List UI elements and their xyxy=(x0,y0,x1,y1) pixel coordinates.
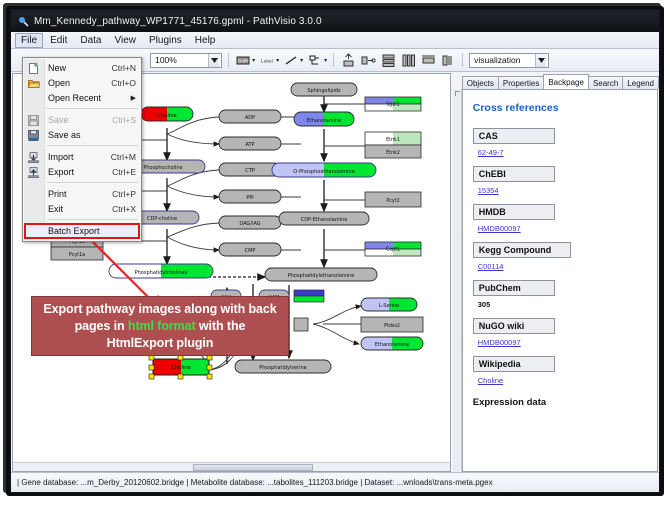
svg-text:Sphingolipids: Sphingolipids xyxy=(307,88,341,94)
align-top-tool-icon[interactable] xyxy=(340,52,356,68)
menu-item-accel: Ctrl+N xyxy=(112,63,136,73)
genproduct-tool-group[interactable]: GnPr ▾ xyxy=(235,52,255,68)
svg-text:O-Phosphoethanolamine: O-Phosphoethanolamine xyxy=(293,169,355,175)
svg-text:Pcyt1a: Pcyt1a xyxy=(69,252,85,258)
annotation-line2-highlight: html format xyxy=(128,319,196,333)
svg-text:CTP: CTP xyxy=(245,168,255,174)
visualization-combobox[interactable]: visualization xyxy=(469,53,549,68)
menu-item-label: Batch Export xyxy=(48,226,133,236)
xref-cas: CAS 62-49-7 xyxy=(473,128,647,157)
chevron-down-icon[interactable] xyxy=(535,54,546,67)
menu-item-print[interactable]: Print Ctrl+P xyxy=(23,186,141,201)
distribute-vertical-tool-icon[interactable] xyxy=(380,52,396,68)
menu-item-batch-export[interactable]: Batch Export xyxy=(24,223,140,239)
gene-pcyt1a[interactable]: Pcyt1a xyxy=(51,247,103,260)
side-panel-tabstrip: Objects Properties Backpage Search Legen… xyxy=(453,73,658,89)
toolbar-separator xyxy=(228,53,229,67)
gene-sgpl1[interactable]: Sgpl1 xyxy=(365,97,421,111)
annotation-line1: Export pathway images along with back xyxy=(43,302,276,316)
node-o-phosphoethanolamine[interactable]: O-Phosphoethanolamine xyxy=(272,163,376,177)
pathvisio-icon xyxy=(17,15,29,27)
xref-db-label: PubChem xyxy=(473,280,555,296)
svg-text:CMP: CMP xyxy=(245,248,256,254)
svg-text:Label: Label xyxy=(261,58,273,64)
distribute-horizontal-tool-icon[interactable] xyxy=(400,52,416,68)
menu-item-accel: Ctrl+S xyxy=(112,115,136,125)
gene-cept1[interactable]: Cept1 xyxy=(365,242,421,256)
svg-text:Ptdss2: Ptdss2 xyxy=(384,323,400,329)
menu-item-label: Import xyxy=(48,152,111,162)
menu-item-accel: Ctrl+X xyxy=(112,204,136,214)
node-l-serine[interactable]: L-Serine xyxy=(361,298,417,311)
xref-kegg-compound: Kegg Compound C00114 xyxy=(473,242,647,271)
genproduct-tool-icon[interactable]: GnPr xyxy=(235,52,251,68)
menu-item-save: Save Ctrl+S xyxy=(23,112,141,127)
node-choline-selected[interactable]: Choline xyxy=(149,355,212,379)
menu-item-open-recent[interactable]: Open Recent ▶ xyxy=(23,90,141,105)
menu-item-open[interactable]: Open Ctrl+O xyxy=(23,75,141,90)
svg-text:ADP: ADP xyxy=(245,115,255,121)
new-file-icon xyxy=(27,62,40,74)
menu-file[interactable]: File xyxy=(15,33,43,48)
svg-text:DAG/IAG: DAG/IAG xyxy=(239,221,260,227)
folder-open-icon xyxy=(27,77,40,89)
xref-value-link[interactable]: HMDB00097 xyxy=(478,224,647,233)
chevron-right-icon: ▶ xyxy=(131,94,136,102)
svg-text:Phosphatidylethanolamine: Phosphatidylethanolamine xyxy=(288,273,355,279)
tab-backpage[interactable]: Backpage xyxy=(543,74,589,89)
line-tool-group[interactable]: ▾ xyxy=(283,52,303,68)
tab-properties[interactable]: Properties xyxy=(498,76,544,89)
menu-item-accel: Ctrl+O xyxy=(111,78,136,88)
menubar: File Edit Data View Plugins Help xyxy=(11,32,659,49)
backpage-content: Cross references CAS 62-49-7 ChEBI 15354… xyxy=(462,89,658,472)
menu-item-label: Open Recent xyxy=(48,93,131,103)
label-tool-icon[interactable]: Label xyxy=(259,52,275,68)
node-dag-iag[interactable]: DAG/IAG xyxy=(219,216,281,229)
svg-text:Etnk2: Etnk2 xyxy=(386,150,400,156)
node-ethanolamine[interactable]: Ethanolamine xyxy=(294,112,354,126)
export-icon xyxy=(27,166,40,178)
svg-text:Ethanolamine: Ethanolamine xyxy=(375,342,410,348)
menu-item-accel: Ctrl+M xyxy=(111,152,136,162)
chevron-down-icon[interactable]: ▾ xyxy=(276,57,279,64)
node-ethanolamine-2[interactable]: Ethanolamine xyxy=(361,337,423,350)
svg-text:Phosphatidylcholines: Phosphatidylcholines xyxy=(135,270,188,276)
node-phosphatidylserine[interactable]: Phosphatidylserine xyxy=(235,360,331,373)
import-icon xyxy=(27,151,40,163)
menu-plugins[interactable]: Plugins xyxy=(143,33,188,48)
xref-wikipedia: Wikipedia Choline xyxy=(473,356,647,385)
chevron-down-icon[interactable]: ▾ xyxy=(300,57,303,64)
xref-db-label: ChEBI xyxy=(473,166,555,182)
screenshot-root: Mm_Kennedy_pathway_WP1771_45176.gpml - P… xyxy=(0,0,670,509)
menu-edit[interactable]: Edit xyxy=(44,33,73,48)
tab-legend[interactable]: Legend xyxy=(622,76,659,89)
save-as-icon xyxy=(27,129,40,141)
xref-db-label: HMDB xyxy=(473,204,555,220)
menu-separator xyxy=(47,219,138,220)
annotation-line2-post: with the xyxy=(196,319,246,333)
svg-text:Ethanolamine: Ethanolamine xyxy=(307,118,342,124)
gene-etnk2[interactable]: Etnk2 xyxy=(365,145,421,158)
menu-item-exit[interactable]: Exit Ctrl+X xyxy=(23,201,141,216)
svg-text:Choline: Choline xyxy=(171,365,190,371)
gene-etnk1[interactable]: Etnk1 xyxy=(365,132,421,145)
menu-item-import[interactable]: Import Ctrl+M xyxy=(23,149,141,164)
expression-data-title: Expression data xyxy=(473,397,647,408)
menu-item-label: Save as xyxy=(48,130,136,140)
annotation-line2-pre: pages in xyxy=(75,319,128,333)
annotation-banner: Export pathway images along with back pa… xyxy=(31,296,289,356)
node-phosphatidylcholines[interactable]: Phosphatidylcholines xyxy=(109,264,213,278)
xref-value-link[interactable]: C00114 xyxy=(478,262,647,271)
xref-db-label: NuGO wiki xyxy=(473,318,555,334)
xref-db-label: CAS xyxy=(473,128,555,144)
same-height-tool-icon[interactable] xyxy=(440,52,456,68)
scrollbar-thumb[interactable] xyxy=(193,464,313,471)
chevron-down-icon[interactable]: ▾ xyxy=(324,57,327,64)
svg-text:GnPr: GnPr xyxy=(238,58,249,64)
save-disk-icon xyxy=(27,114,40,126)
resize-grip-icon[interactable] xyxy=(455,91,460,96)
svg-text:CDP-choline: CDP-choline xyxy=(147,216,177,222)
menu-item-save-as[interactable]: Save as xyxy=(23,127,141,142)
gene-pcyt2[interactable]: Pcyt2 xyxy=(365,192,421,207)
align-left-tool-icon[interactable] xyxy=(360,52,376,68)
menu-data[interactable]: Data xyxy=(74,33,107,48)
annotation-line3: HtmlExport plugin xyxy=(107,336,214,350)
node-phosphatidylethanolamine[interactable]: Phosphatidylethanolamine xyxy=(265,268,377,281)
svg-text:Sgpl1: Sgpl1 xyxy=(386,102,400,108)
visualization-value: visualization xyxy=(474,55,520,65)
xref-db-label: Kegg Compound xyxy=(473,242,571,258)
node-choline[interactable]: Choline xyxy=(141,107,193,121)
tab-search[interactable]: Search xyxy=(588,76,623,89)
pathvisio-window: Mm_Kennedy_pathway_WP1771_45176.gpml - P… xyxy=(10,9,660,493)
toolbar-separator xyxy=(333,53,334,67)
xref-hmdb: HMDB HMDB00097 xyxy=(473,204,647,233)
cross-references-title: Cross references xyxy=(473,102,647,114)
node-ppi[interactable]: PPi xyxy=(219,190,281,203)
canvas-horizontal-scrollbar[interactable] xyxy=(13,462,450,471)
xref-value-text: 305 xyxy=(478,300,647,309)
svg-text:Cept1: Cept1 xyxy=(386,247,400,253)
svg-text:CDP-Ethanolamine: CDP-Ethanolamine xyxy=(301,217,348,223)
gene-stub-unlabeled[interactable] xyxy=(294,290,324,302)
menu-item-label: Save xyxy=(48,115,112,125)
gene-ptdss2[interactable]: Ptdss2 xyxy=(361,317,423,332)
toolbar-separator xyxy=(462,53,463,67)
menu-view[interactable]: View xyxy=(108,33,142,48)
xref-pubchem: PubChem 305 xyxy=(473,280,647,309)
svg-text:Pcyt2: Pcyt2 xyxy=(386,198,399,204)
menu-item-accel: Ctrl+E xyxy=(112,167,136,177)
svg-text:PPi: PPi xyxy=(246,195,253,201)
xref-db-label: Wikipedia xyxy=(473,356,555,372)
xref-value-link[interactable]: 15354 xyxy=(478,186,647,195)
menu-item-new[interactable]: New Ctrl+N xyxy=(23,60,141,75)
node-cmp[interactable]: CMP xyxy=(219,243,281,256)
svg-text:Choline: Choline xyxy=(157,113,176,119)
menu-separator xyxy=(47,182,138,183)
xref-value-link[interactable]: 62-49-7 xyxy=(478,148,647,157)
menu-item-label: Exit xyxy=(48,204,112,214)
menu-separator xyxy=(47,108,138,109)
line-tool-icon[interactable] xyxy=(283,52,299,68)
tab-objects[interactable]: Objects xyxy=(462,76,499,89)
menu-item-export[interactable]: Export Ctrl+E xyxy=(23,164,141,179)
menu-item-label: Print xyxy=(48,189,112,199)
xref-value-link[interactable]: Choline xyxy=(478,376,647,385)
chevron-down-icon[interactable]: ▾ xyxy=(252,57,255,64)
node-cdp-ethanolamine[interactable]: CDP-Ethanolamine xyxy=(279,212,369,225)
menu-help[interactable]: Help xyxy=(189,33,222,48)
xref-value-link[interactable]: HMDB00097 xyxy=(478,338,647,347)
svg-text:Phosphatidylserine: Phosphatidylserine xyxy=(259,365,307,371)
interaction-tool-group[interactable]: ▾ xyxy=(307,52,327,68)
svg-text:ATP: ATP xyxy=(245,142,254,148)
menu-item-label: Open xyxy=(48,78,111,88)
svg-text:Phosphocholine: Phosphocholine xyxy=(143,165,182,171)
menu-item-label: New xyxy=(48,63,112,73)
file-menu-popup[interactable]: New Ctrl+N Open Ctrl+O Open Recent ▶ xyxy=(22,57,142,242)
zoom-combobox[interactable]: 100% xyxy=(150,53,222,68)
side-panel: Objects Properties Backpage Search Legen… xyxy=(453,73,658,472)
menu-separator xyxy=(47,145,138,146)
zoom-value: 100% xyxy=(155,55,177,65)
statusbar-text: | Gene database: ...m_Derby_20120602.bri… xyxy=(17,478,493,487)
svg-text:Etnk1: Etnk1 xyxy=(386,137,400,143)
node-sphingolipids[interactable]: Sphingolipids xyxy=(291,83,357,96)
interaction-tool-icon[interactable] xyxy=(307,52,323,68)
xref-chebi: ChEBI 15354 xyxy=(473,166,647,195)
xref-nugo-wiki: NuGO wiki HMDB00097 xyxy=(473,318,647,347)
same-width-tool-icon[interactable] xyxy=(420,52,436,68)
chevron-down-icon[interactable] xyxy=(208,54,219,67)
menu-item-accel: Ctrl+P xyxy=(112,189,136,199)
statusbar: | Gene database: ...m_Derby_20120602.bri… xyxy=(11,472,659,492)
node-atp[interactable]: ATP xyxy=(219,137,281,150)
svg-text:L-Serine: L-Serine xyxy=(379,303,399,309)
menu-item-label: Export xyxy=(48,167,112,177)
node-adp[interactable]: ADP xyxy=(219,110,281,123)
titlebar: Mm_Kennedy_pathway_WP1771_45176.gpml - P… xyxy=(11,10,659,32)
label-tool-group[interactable]: Label ▾ xyxy=(259,52,279,68)
side-panel-gutter[interactable] xyxy=(453,89,462,472)
window-title: Mm_Kennedy_pathway_WP1771_45176.gpml - P… xyxy=(34,16,322,27)
